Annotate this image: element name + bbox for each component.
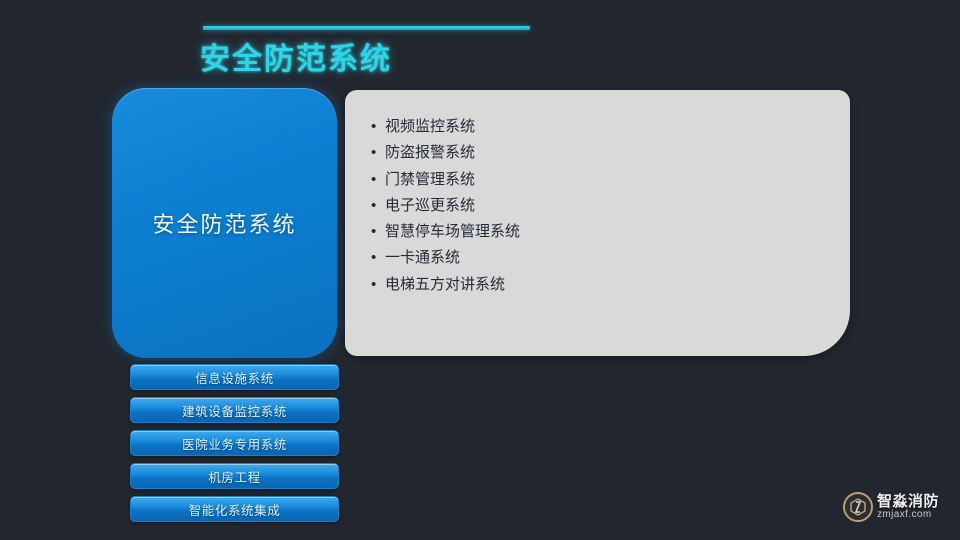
feature-list-item: •一卡通系统 [371,245,824,271]
watermark-brand-name: 智淼消防 [877,494,939,509]
feature-list-item-label: 智慧停车场管理系统 [385,223,520,240]
feature-list-item: •防盗报警系统 [371,140,824,166]
content-panel: •视频监控系统•防盗报警系统•门禁管理系统•电子巡更系统•智慧停车场管理系统•一… [345,90,850,356]
feature-list-item: •电梯五方对讲系统 [371,272,824,298]
feature-list-item: •电子巡更系统 [371,193,824,219]
stack-button[interactable]: 建筑设备监控系统 [130,397,339,423]
bullet-icon: • [371,245,376,271]
bullet-icon: • [371,193,376,219]
bullet-icon: • [371,140,376,166]
stack-button-label: 医院业务专用系统 [182,434,287,453]
watermark-url: zmjaxf.com [877,510,939,520]
main-category-card[interactable]: 安全防范系统 [112,88,337,358]
stack-button-label: 建筑设备监控系统 [182,401,287,420]
sidebar-button-stack: 信息设施系统建筑设备监控系统医院业务专用系统机房工程智能化系统集成 [130,364,339,529]
feature-list-item: •视频监控系统 [371,114,824,140]
stack-button[interactable]: 机房工程 [130,463,339,489]
bullet-icon: • [371,219,376,245]
shield-logo-icon [843,492,873,522]
title-underline-rule [203,26,530,30]
stack-button-label: 机房工程 [208,467,260,486]
main-category-card-label: 安全防范系统 [152,207,296,239]
page-title: 安全防范系统 [200,40,392,80]
bullet-icon: • [371,167,376,193]
bullet-icon: • [371,114,376,140]
feature-list-item-label: 防盗报警系统 [385,144,475,161]
watermark-logo: 智淼消防 zmjaxf.com [843,492,939,522]
feature-list-item: •门禁管理系统 [371,167,824,193]
feature-list: •视频监控系统•防盗报警系统•门禁管理系统•电子巡更系统•智慧停车场管理系统•一… [371,114,824,298]
feature-list-item: •智慧停车场管理系统 [371,219,824,245]
watermark-text-group: 智淼消防 zmjaxf.com [877,494,939,520]
feature-list-item-label: 电梯五方对讲系统 [385,276,505,293]
feature-list-item-label: 视频监控系统 [385,118,475,135]
feature-list-item-label: 电子巡更系统 [385,197,475,214]
feature-list-item-label: 一卡通系统 [385,249,460,266]
slide-canvas: 安全防范系统 安全防范系统 •视频监控系统•防盗报警系统•门禁管理系统•电子巡更… [0,0,960,540]
stack-button[interactable]: 医院业务专用系统 [130,430,339,456]
stack-button[interactable]: 智能化系统集成 [130,496,339,522]
stack-button[interactable]: 信息设施系统 [130,364,339,390]
stack-button-label: 信息设施系统 [195,368,274,387]
bullet-icon: • [371,272,376,298]
stack-button-label: 智能化系统集成 [189,500,281,519]
feature-list-item-label: 门禁管理系统 [385,171,475,188]
